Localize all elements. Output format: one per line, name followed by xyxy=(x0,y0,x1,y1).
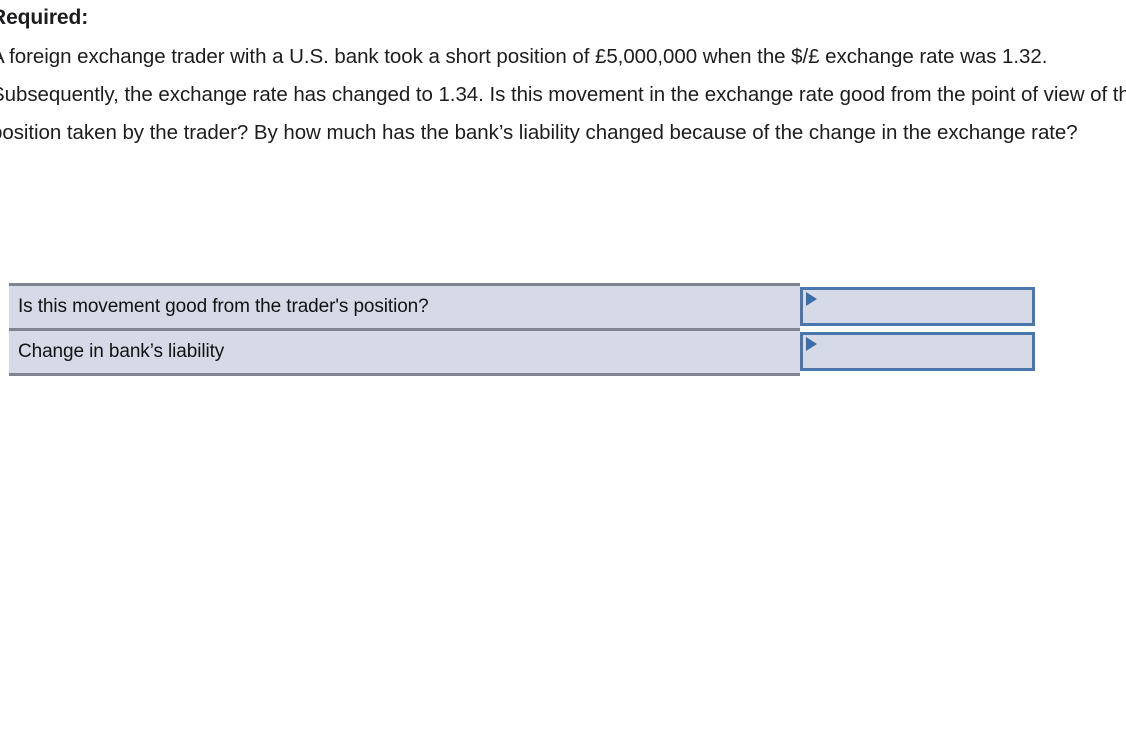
page-content: Required: A foreign exchange trader with… xyxy=(0,0,1126,151)
dropdown-bank-liability[interactable] xyxy=(800,332,1035,371)
row-label-bank-liability: Change in bank’s liability xyxy=(9,330,800,375)
row-label-trader-position: Is this movement good from the trader's … xyxy=(9,285,800,330)
question-block: Required: A foreign exchange trader with… xyxy=(0,0,1126,151)
table-row: Change in bank’s liability xyxy=(9,330,1035,375)
triangle-right-icon xyxy=(806,337,817,351)
answer-table-container: Is this movement good from the trader's … xyxy=(9,283,1026,376)
triangle-right-icon xyxy=(806,292,817,306)
answer-cell-bank-liability xyxy=(800,330,1035,375)
dropdown-trader-position[interactable] xyxy=(800,287,1035,326)
answer-cell-trader-position xyxy=(800,285,1035,330)
required-heading: Required: xyxy=(0,0,1126,32)
answer-table: Is this movement good from the trader's … xyxy=(9,283,1035,376)
table-row: Is this movement good from the trader's … xyxy=(9,285,1035,330)
question-text: A foreign exchange trader with a U.S. ba… xyxy=(0,32,1126,151)
